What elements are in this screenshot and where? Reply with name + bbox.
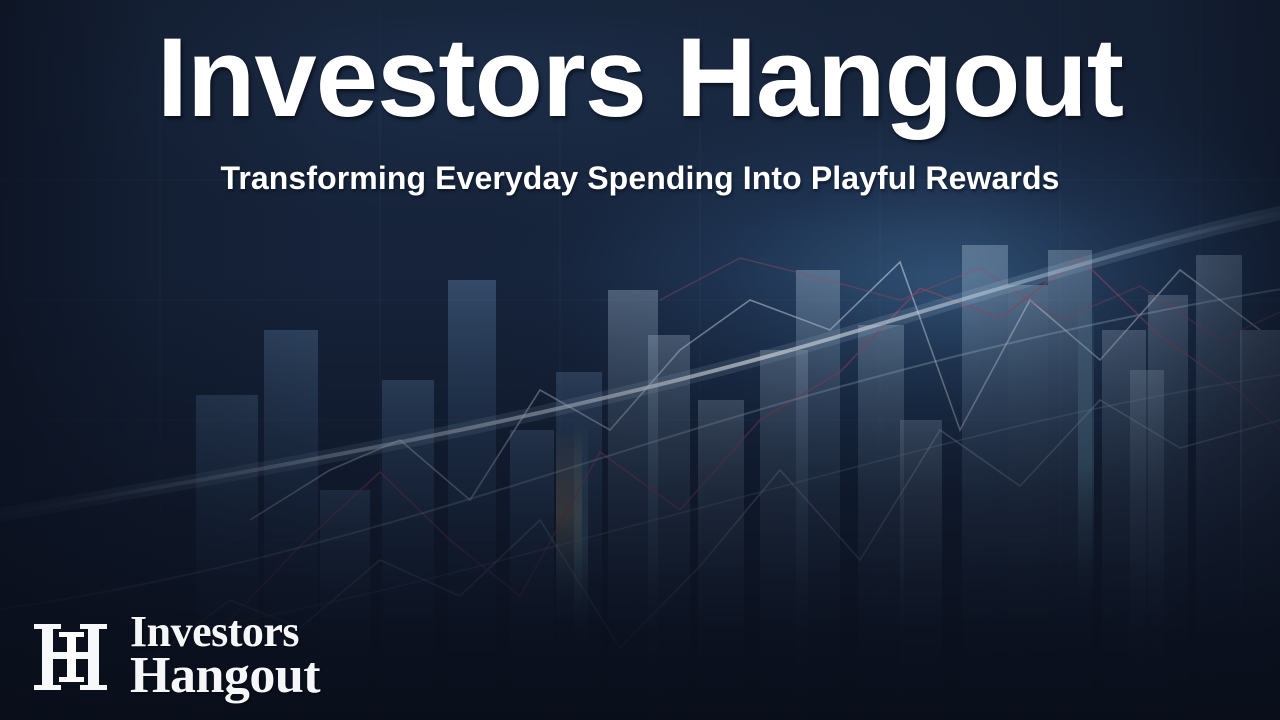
logo-line-investors: Investors <box>130 611 320 652</box>
chart-bars-right <box>608 245 1280 720</box>
logo-wordmark: Investors Hangout <box>130 611 320 701</box>
page-title: Investors Hangout <box>0 0 1280 134</box>
headline-block: Investors Hangout Transforming Everyday … <box>0 0 1280 194</box>
brand-logo[interactable]: Investors Hangout <box>26 610 320 702</box>
hero-banner: Investors Hangout Transforming Everyday … <box>0 0 1280 720</box>
ih-monogram-icon <box>26 610 118 702</box>
chart-accent-cyan <box>574 420 588 650</box>
logo-line-hangout: Hangout <box>130 652 320 701</box>
chart-accent-cyan-2 <box>1078 300 1094 600</box>
page-subtitle: Transforming Everyday Spending Into Play… <box>0 134 1280 194</box>
